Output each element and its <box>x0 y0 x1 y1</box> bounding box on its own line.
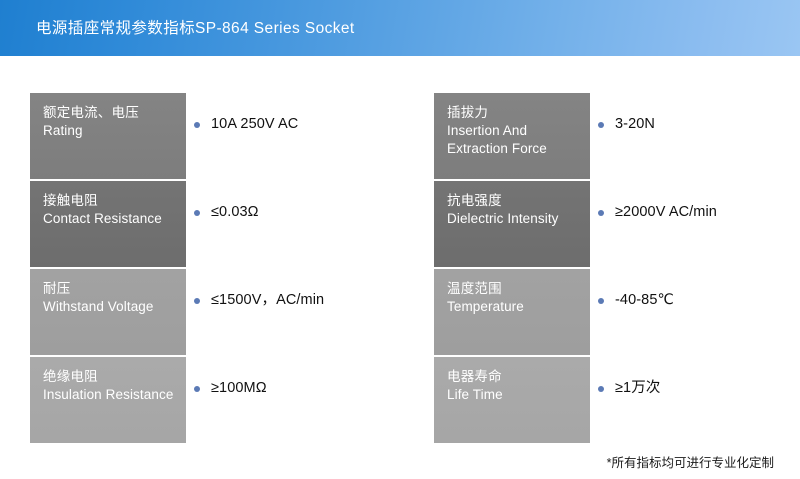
spec-label: 插拔力 Insertion And Extraction Force <box>434 93 590 179</box>
page-title: 电源插座常规参数指标SP-864 Series Socket <box>36 16 355 38</box>
bullet-icon <box>598 386 604 392</box>
spec-value-text: ≥1万次 <box>615 379 660 398</box>
bullet-icon <box>598 122 604 128</box>
spec-row: 插拔力 Insertion And Extraction Force 3-20N <box>434 93 794 181</box>
spec-label: 额定电流、电压 Rating <box>30 93 186 179</box>
spec-row: 额定电流、电压 Rating 10A 250V AC <box>30 93 390 181</box>
spec-row: 耐压 Withstand Voltage ≤1500V，AC/min <box>30 269 390 357</box>
spec-label-cn: 温度范围 <box>447 280 590 298</box>
spec-label-cn: 绝缘电阻 <box>43 368 186 386</box>
spec-label-en-line2: Extraction Force <box>447 140 590 158</box>
spec-value: ≥2000V AC/min <box>598 203 717 222</box>
header-banner: 电源插座常规参数指标SP-864 Series Socket <box>0 0 800 56</box>
spec-value-text: 3-20N <box>615 115 655 134</box>
spec-value: 10A 250V AC <box>194 115 298 134</box>
spec-label-cn: 电器寿命 <box>447 368 590 386</box>
spec-label: 电器寿命 Life Time <box>434 357 590 443</box>
spec-value: ≥100MΩ <box>194 379 267 398</box>
spec-value: -40-85℃ <box>598 291 674 310</box>
bullet-icon <box>598 298 604 304</box>
bullet-icon <box>194 122 200 128</box>
spec-label-en: Withstand Voltage <box>43 298 186 316</box>
spec-value-text: ≥2000V AC/min <box>615 203 717 222</box>
spec-label: 接触电阻 Contact Resistance <box>30 181 186 267</box>
spec-label: 温度范围 Temperature <box>434 269 590 355</box>
spec-value: ≥1万次 <box>598 379 660 398</box>
spec-label: 抗电强度 Dielectric Intensity <box>434 181 590 267</box>
spec-label-en: Dielectric Intensity <box>447 210 590 228</box>
footnote: *所有指标均可进行专业化定制 <box>607 452 774 471</box>
spec-label-en: Rating <box>43 122 186 140</box>
bullet-icon <box>598 210 604 216</box>
spec-row: 温度范围 Temperature -40-85℃ <box>434 269 794 357</box>
spec-label-en: Temperature <box>447 298 590 316</box>
spec-label: 耐压 Withstand Voltage <box>30 269 186 355</box>
spec-value: 3-20N <box>598 115 655 134</box>
spec-value: ≤1500V，AC/min <box>194 291 324 310</box>
spec-row: 抗电强度 Dielectric Intensity ≥2000V AC/min <box>434 181 794 269</box>
spec-value: ≤0.03Ω <box>194 203 259 222</box>
spec-value-text: ≤0.03Ω <box>211 203 259 222</box>
spec-label-cn: 耐压 <box>43 280 186 298</box>
spec-label-en: Life Time <box>447 386 590 404</box>
spec-label-cn: 接触电阻 <box>43 192 186 210</box>
bullet-icon <box>194 210 200 216</box>
bullet-icon <box>194 298 200 304</box>
spec-value-text: -40-85℃ <box>615 291 674 310</box>
spec-label-en: Insulation Resistance <box>43 386 186 404</box>
spec-column-right: 插拔力 Insertion And Extraction Force 3-20N… <box>434 93 794 443</box>
spec-label-en: Contact Resistance <box>43 210 186 228</box>
spec-value-text: ≥100MΩ <box>211 379 267 398</box>
spec-row: 接触电阻 Contact Resistance ≤0.03Ω <box>30 181 390 269</box>
spec-label-cn: 插拔力 <box>447 104 590 122</box>
spec-value-text: 10A 250V AC <box>211 115 298 134</box>
spec-label: 绝缘电阻 Insulation Resistance <box>30 357 186 443</box>
spec-row: 电器寿命 Life Time ≥1万次 <box>434 357 794 445</box>
spec-label-cn: 额定电流、电压 <box>43 104 186 122</box>
spec-label-cn: 抗电强度 <box>447 192 590 210</box>
spec-row: 绝缘电阻 Insulation Resistance ≥100MΩ <box>30 357 390 445</box>
spec-column-left: 额定电流、电压 Rating 10A 250V AC 接触电阻 Contact … <box>30 93 390 443</box>
bullet-icon <box>194 386 200 392</box>
spec-value-text: ≤1500V，AC/min <box>211 291 324 310</box>
spec-label-en: Insertion And <box>447 122 590 140</box>
